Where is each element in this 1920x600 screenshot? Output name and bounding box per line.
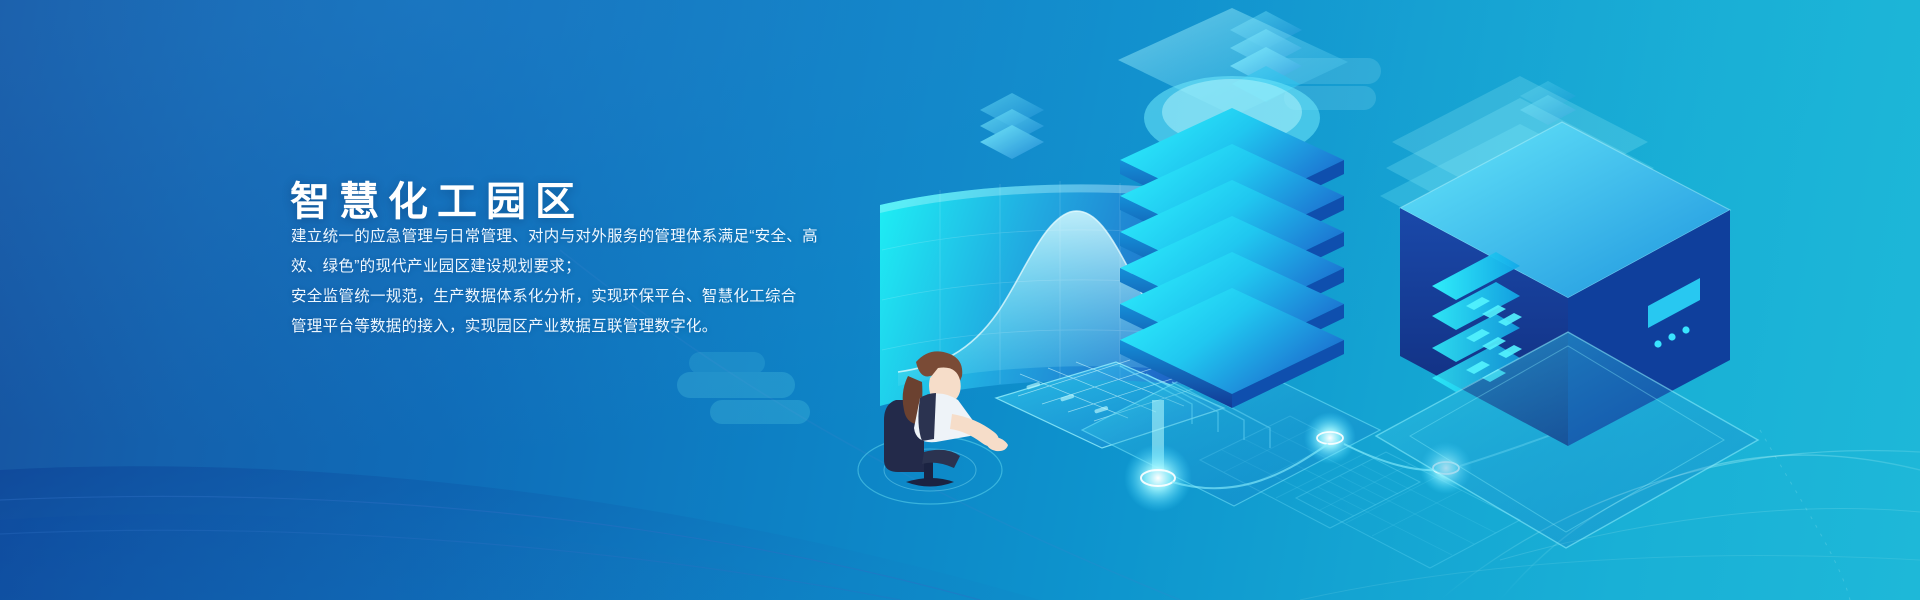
page-title: 智慧化工园区 — [290, 179, 584, 226]
description-line-1: 建立统一的应急管理与日常管理、对内与对外服务的管理体系满足“安全、高 — [291, 222, 911, 252]
banner-content: 智慧化工园区 建立统一的应急管理与日常管理、对内与对外服务的管理体系满足“安全、… — [0, 0, 1000, 600]
banner-description: 建立统一的应急管理与日常管理、对内与对外服务的管理体系满足“安全、高 效、绿色”… — [291, 222, 911, 342]
description-line-2: 效、绿色”的现代产业园区建设规划要求； — [291, 252, 911, 282]
glow-node-center — [1124, 444, 1192, 512]
hero-banner: 智慧化工园区 建立统一的应急管理与日常管理、对内与对外服务的管理体系满足“安全、… — [0, 0, 1920, 600]
tower-slabs — [1120, 108, 1344, 408]
description-line-4: 管理平台等数据的接入，实现园区产业数据互联管理数字化。 — [291, 312, 911, 342]
glow-node-mid — [1304, 412, 1356, 464]
description-line-3: 安全监管统一规范，生产数据体系化分析，实现环保平台、智慧化工综合 — [291, 282, 911, 312]
